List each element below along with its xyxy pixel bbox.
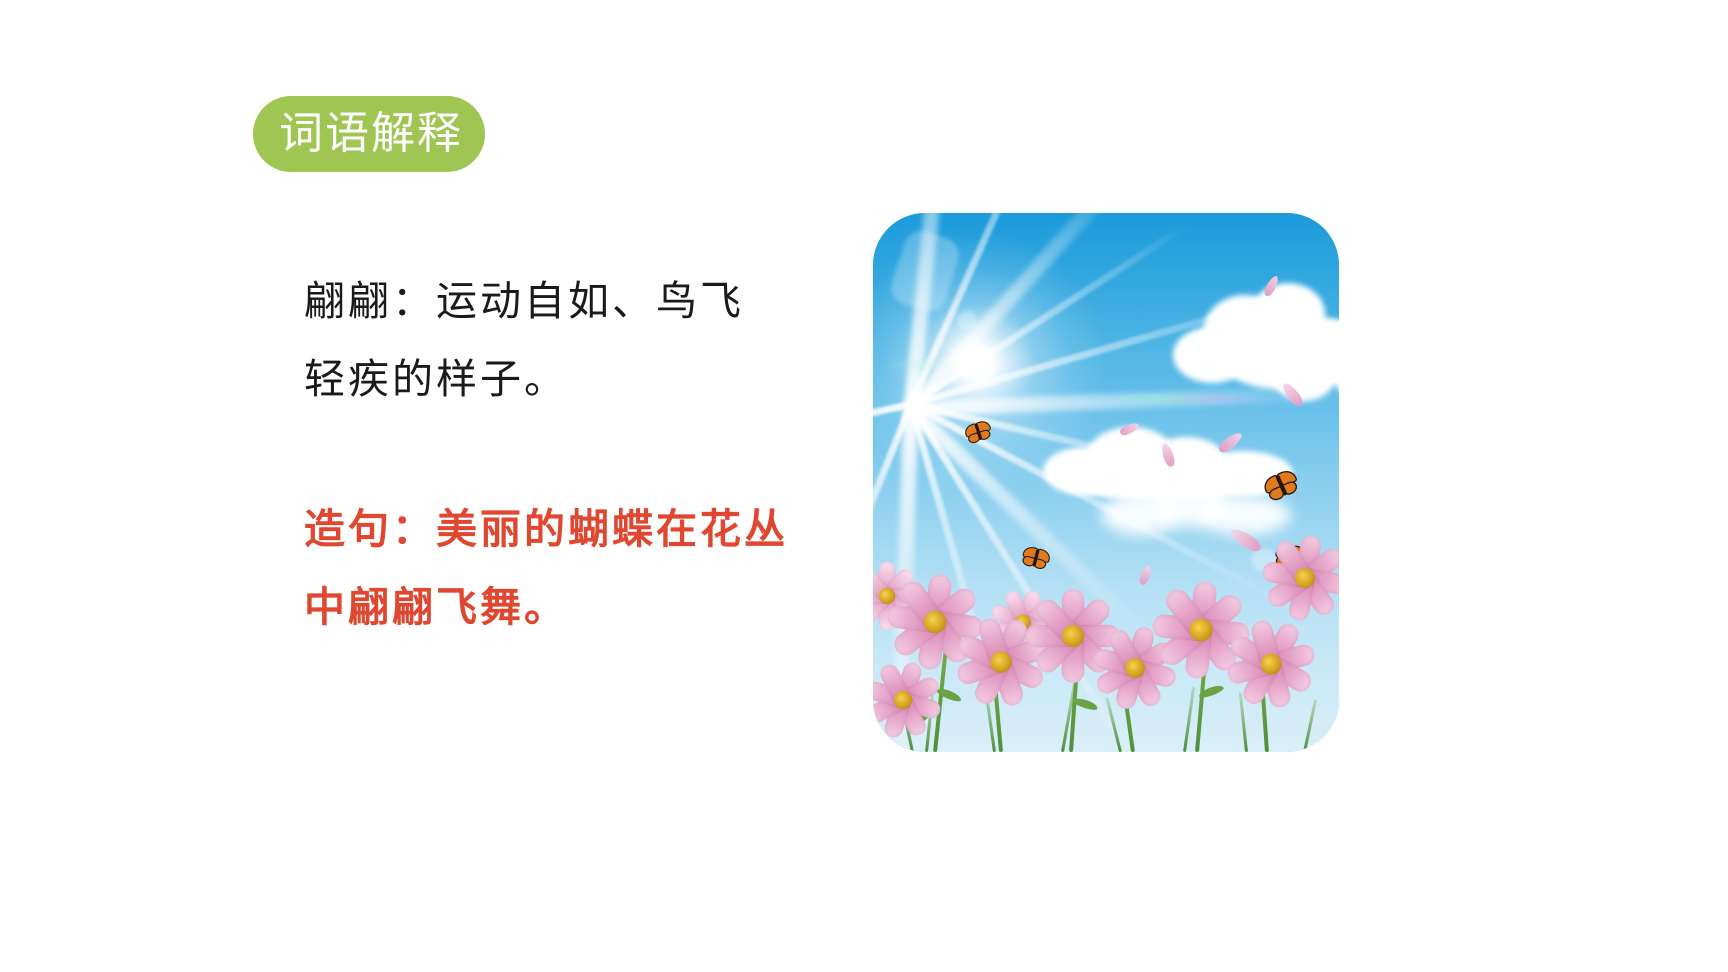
section-badge-label: 词语解释 [275,112,463,156]
example-paragraph: 造句：美丽的蝴蝶在花丛 中翩翩飞舞。 [304,490,864,646]
cloud-shape [1271,317,1339,413]
definition-line-2: 轻疾的样子。 [304,340,864,418]
flower-meadow [873,504,1339,752]
example-line-2: 中翩翩飞舞。 [304,568,864,646]
section-badge: 词语解释 [253,96,485,172]
lesson-text-block: 翩翩：运动自如、鸟飞 轻疾的样子。 造句：美丽的蝴蝶在花丛 中翩翩飞舞。 [304,262,864,646]
example-line-1: 造句：美丽的蝴蝶在花丛 [304,490,864,568]
lens-flare-streak [1111,395,1261,403]
illustration-photo [873,213,1339,752]
definition-line-1: 翩翩：运动自如、鸟飞 [304,262,864,340]
definition-paragraph: 翩翩：运动自如、鸟飞 轻疾的样子。 [304,262,864,418]
photo-content [873,213,1339,752]
slide-canvas: 词语解释 翩翩：运动自如、鸟飞 轻疾的样子。 造句：美丽的蝴蝶在花丛 中翩翩飞舞… [0,0,1728,972]
